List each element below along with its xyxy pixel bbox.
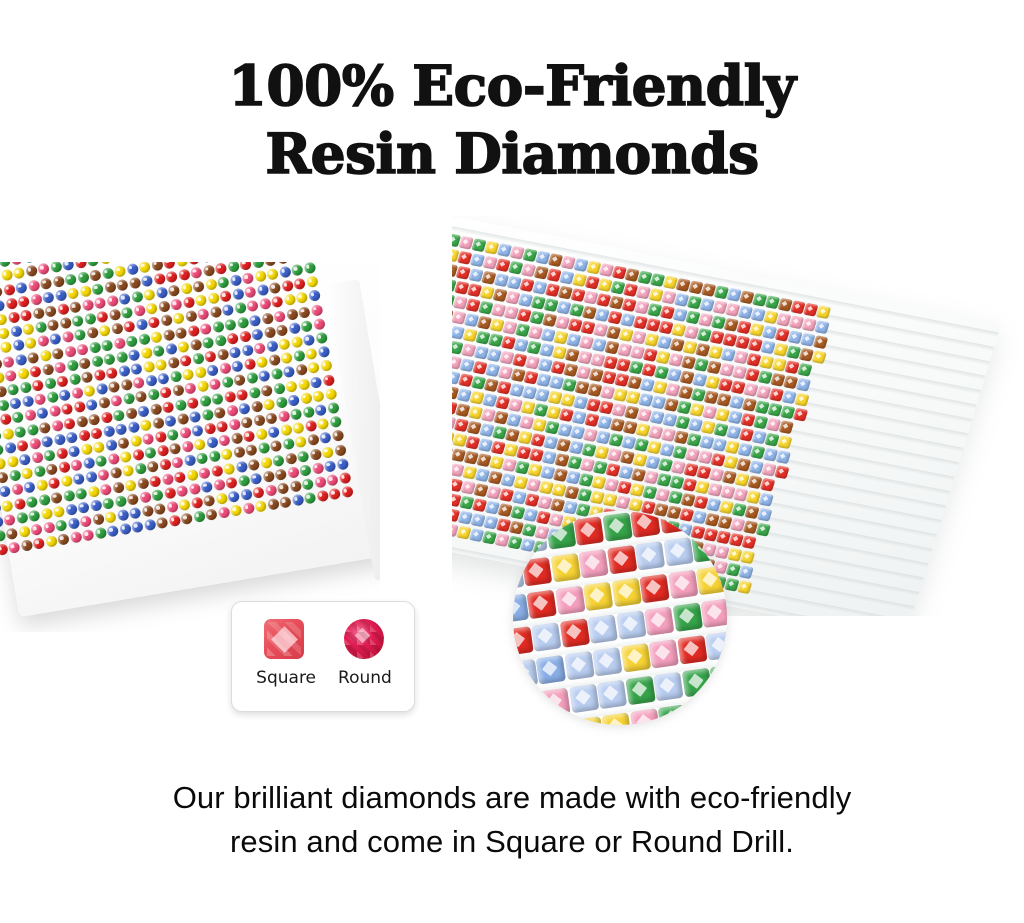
round-drill-bead xyxy=(0,299,5,312)
square-drill-bead-zoomed xyxy=(620,643,650,673)
round-drill-bead xyxy=(297,378,310,391)
round-drill-bead xyxy=(334,444,347,457)
round-drill-bead xyxy=(121,307,134,320)
round-drill-bead xyxy=(236,388,249,401)
round-drill-bead xyxy=(32,307,45,320)
square-drill-bead-zoomed xyxy=(715,511,727,526)
round-drill-bead xyxy=(315,332,328,345)
round-drill-bead xyxy=(101,339,114,352)
round-drill-gem-icon xyxy=(344,619,384,659)
square-drill-bead-zoomed xyxy=(531,622,561,652)
round-drill-bead xyxy=(199,322,212,335)
round-drill-bead xyxy=(159,387,172,400)
round-drill-bead xyxy=(38,493,51,506)
round-drill-bead xyxy=(23,262,36,264)
round-drill-bead xyxy=(290,336,303,349)
round-drill-bead xyxy=(84,313,97,326)
round-drill-bead xyxy=(268,354,281,367)
round-drill-bead xyxy=(189,410,202,423)
round-drill-bead xyxy=(217,276,230,289)
round-drill-bead xyxy=(249,314,262,327)
square-drill-bead-zoomed xyxy=(513,659,538,689)
round-drill-bead xyxy=(192,280,205,293)
round-drill-bead xyxy=(300,320,313,333)
round-drill-bead xyxy=(44,305,57,318)
square-drill-bead-zoomed xyxy=(527,590,557,620)
round-drill-bead xyxy=(168,515,181,528)
square-drill-bead xyxy=(779,420,794,434)
round-drill-bead xyxy=(279,496,292,509)
round-drill-bead xyxy=(219,290,232,303)
round-drill-bead xyxy=(0,385,7,398)
round-drill-bead xyxy=(139,491,152,504)
round-drill-bead xyxy=(37,263,50,276)
round-drill-bead xyxy=(19,381,32,394)
round-drill-bead xyxy=(128,349,141,362)
square-drill-bead-zoomed xyxy=(536,655,566,685)
round-drill-bead xyxy=(0,341,12,354)
square-drill-bead xyxy=(814,320,829,334)
round-drill-bead xyxy=(14,353,27,366)
round-drill-bead xyxy=(64,273,77,286)
round-drill-bead xyxy=(168,284,181,297)
legend-label-square: Square xyxy=(256,668,316,688)
round-drill-bead xyxy=(298,306,311,319)
square-drill-bead-zoomed xyxy=(658,511,688,534)
round-drill-bead xyxy=(48,477,61,490)
round-drill-bead xyxy=(135,319,148,332)
round-drill-bead xyxy=(6,455,19,468)
round-drill-bead xyxy=(67,287,80,300)
round-drill-bead xyxy=(176,412,189,425)
round-drill-bead xyxy=(163,487,176,500)
round-drill-bead xyxy=(156,517,169,530)
round-drill-bead xyxy=(83,385,96,398)
round-drill-bead xyxy=(281,280,294,293)
round-drill-bead xyxy=(0,313,8,326)
round-drill-bead xyxy=(151,489,164,502)
round-drill-bead xyxy=(143,289,156,302)
round-drill-bead xyxy=(122,465,135,478)
round-drill-bead xyxy=(69,301,82,314)
round-drill-bead xyxy=(0,262,11,268)
round-drill-bead xyxy=(116,279,129,292)
round-drill-bead xyxy=(166,501,179,514)
round-drill-bead xyxy=(280,352,293,365)
square-drill-bead-zoomed xyxy=(686,701,716,725)
product-caption: Our brilliant diamonds are made with eco… xyxy=(0,776,1024,864)
round-drill-bead xyxy=(328,488,341,501)
round-drill-bead xyxy=(34,393,47,406)
round-drill-bead xyxy=(290,408,303,421)
round-drill-bead xyxy=(142,361,155,374)
round-drill-bead xyxy=(3,283,16,296)
round-drill-bead xyxy=(264,484,277,497)
round-drill-bead xyxy=(200,262,213,263)
square-drill-gem-icon xyxy=(264,619,304,659)
round-drill-bead xyxy=(204,350,217,363)
round-drill-bead xyxy=(227,490,240,503)
round-drill-bead xyxy=(45,463,58,476)
round-drill-bead xyxy=(188,262,201,265)
round-drill-bead xyxy=(321,446,334,459)
round-drill-bead xyxy=(104,281,117,294)
round-drill-bead xyxy=(113,337,126,350)
round-drill-bead xyxy=(24,337,37,350)
round-drill-bead xyxy=(1,499,14,512)
round-drill-bead xyxy=(0,429,2,442)
round-drill-bead xyxy=(260,384,273,397)
round-drill-bead xyxy=(100,411,113,424)
round-drill-bead xyxy=(10,262,23,266)
round-drill-bead xyxy=(181,440,194,453)
round-drill-bead xyxy=(0,471,9,484)
round-drill-bead xyxy=(193,511,206,524)
round-drill-bead xyxy=(104,511,117,524)
round-drill-bead xyxy=(8,541,21,554)
round-drill-bead xyxy=(170,298,183,311)
round-drill-bead xyxy=(63,417,76,430)
round-drill-bead xyxy=(255,428,268,441)
round-drill-bead xyxy=(191,424,204,437)
left-tray-round-drills xyxy=(0,262,380,632)
round-drill-bead xyxy=(296,292,309,305)
round-drill-bead xyxy=(69,531,82,544)
round-drill-bead xyxy=(254,500,267,513)
round-drill-bead xyxy=(99,262,112,265)
round-drill-bead xyxy=(94,527,107,540)
round-drill-bead xyxy=(161,473,174,486)
round-drill-bead xyxy=(0,285,3,298)
round-drill-bead xyxy=(151,262,164,271)
square-drill-bead-zoomed xyxy=(513,626,533,656)
round-drill-bead xyxy=(182,368,195,381)
round-drill-bead xyxy=(140,347,153,360)
round-drill-bead xyxy=(149,403,162,416)
round-drill-bead xyxy=(78,429,91,442)
round-drill-bead xyxy=(81,299,94,312)
round-drill-bead xyxy=(182,296,195,309)
round-drill-bead xyxy=(112,409,125,422)
round-drill-bead xyxy=(214,334,227,347)
round-drill-bead xyxy=(146,461,159,474)
round-drill-bead xyxy=(0,530,6,543)
round-drill-bead xyxy=(0,516,3,529)
square-drill-bead xyxy=(816,305,831,319)
round-drill-bead xyxy=(41,435,54,448)
round-drill-bead xyxy=(203,422,216,435)
round-drill-bead xyxy=(270,440,283,453)
square-drill-bead-zoomed xyxy=(607,545,637,575)
round-drill-bead xyxy=(28,437,41,450)
round-drill-bead xyxy=(68,445,81,458)
round-drill-bead xyxy=(186,396,199,409)
round-drill-bead xyxy=(237,474,250,487)
round-drill-bead xyxy=(271,296,284,309)
round-drill-bead xyxy=(215,492,228,505)
round-drill-bead xyxy=(282,438,295,451)
round-drill-bead xyxy=(196,452,209,465)
round-drill-bead xyxy=(3,513,16,526)
square-drill-bead-zoomed xyxy=(546,520,576,550)
round-drill-bead xyxy=(291,264,304,277)
round-drill-bead xyxy=(93,369,106,382)
round-drill-bead xyxy=(131,291,144,304)
round-drill-bead xyxy=(134,463,147,476)
round-drill-bead xyxy=(111,262,124,263)
caption-line-1: Our brilliant diamonds are made with eco… xyxy=(173,780,852,815)
round-drill-bead xyxy=(17,295,30,308)
drill-shape-legend-card[interactable]: Square Round xyxy=(231,601,415,712)
round-drill-bead xyxy=(37,335,50,348)
round-drill-bead xyxy=(245,444,258,457)
round-drill-bead xyxy=(258,370,271,383)
round-drill-bead xyxy=(12,339,25,352)
square-drill-bead-zoomed xyxy=(592,647,622,677)
round-drill-bead xyxy=(190,266,203,279)
round-drill-bead xyxy=(65,503,78,516)
round-drill-bead xyxy=(31,451,44,464)
round-drill-bead xyxy=(61,331,74,344)
round-drill-bead xyxy=(44,377,57,390)
square-drill-bead-zoomed xyxy=(714,697,727,725)
round-drill-bead xyxy=(202,336,215,349)
round-drill-bead xyxy=(99,483,112,496)
round-drill-bead xyxy=(172,384,185,397)
round-drill-bead xyxy=(217,506,230,519)
round-drill-bead xyxy=(175,326,188,339)
round-drill-bead xyxy=(75,487,88,500)
round-drill-bead xyxy=(207,292,220,305)
round-drill-bead xyxy=(122,393,135,406)
round-drill-bead xyxy=(162,328,175,341)
round-drill-bead xyxy=(175,262,188,267)
round-drill-bead xyxy=(145,375,158,388)
round-drill-bead xyxy=(131,521,144,534)
square-drill-bead-zoomed xyxy=(639,574,669,604)
round-drill-bead xyxy=(136,477,149,490)
product-image-canvas: 100% Eco-Friendly Resin Diamonds Square … xyxy=(0,0,1024,923)
round-drill-bead xyxy=(336,458,349,471)
round-drill-bead xyxy=(244,286,257,299)
round-drill-bead xyxy=(254,270,267,283)
round-drill-bead xyxy=(280,424,293,437)
round-drill-bead xyxy=(206,436,219,449)
round-drill-bead xyxy=(85,399,98,412)
round-drill-bead xyxy=(183,455,196,468)
round-drill-bead xyxy=(178,268,191,281)
round-drill-bead xyxy=(95,455,108,468)
round-drill-bead xyxy=(226,404,239,417)
round-drill-bead xyxy=(96,311,109,324)
round-drill-bead xyxy=(55,447,68,460)
round-drill-bead xyxy=(142,433,155,446)
round-drill-bead xyxy=(212,320,225,333)
round-drill-bead xyxy=(173,471,186,484)
round-drill-bead xyxy=(176,485,189,498)
square-drill-bead xyxy=(740,550,755,564)
square-drill-bead-zoomed xyxy=(677,635,707,665)
square-drill-bead-zoomed xyxy=(564,651,594,681)
round-drill-bead xyxy=(187,324,200,337)
round-drill-bead xyxy=(243,430,256,443)
round-drill-bead xyxy=(78,357,91,370)
round-drill-bead xyxy=(95,383,108,396)
round-drill-bead xyxy=(130,363,143,376)
round-drill-bead xyxy=(253,342,266,355)
round-drill-bead xyxy=(209,378,222,391)
square-drill-bead-zoomed xyxy=(696,566,726,596)
square-drill-bead-zoomed xyxy=(635,541,665,571)
round-drill-bead xyxy=(20,539,33,552)
round-drill-bead xyxy=(77,271,90,284)
round-drill-bead xyxy=(164,415,177,428)
round-drill-bead xyxy=(7,311,20,324)
round-drill-bead xyxy=(85,471,98,484)
round-drill-bead xyxy=(324,388,337,401)
round-drill-bead xyxy=(13,267,26,280)
round-drill-bead xyxy=(223,390,236,403)
round-drill-bead xyxy=(76,343,89,356)
round-drill-bead xyxy=(116,509,129,522)
headline-line-1: 100% Eco-Friendly xyxy=(229,53,796,118)
round-drill-bead xyxy=(153,503,166,516)
round-drill-bead xyxy=(25,265,38,278)
round-drill-bead xyxy=(82,529,95,542)
round-drill-bead xyxy=(144,447,157,460)
round-drill-bead xyxy=(75,415,88,428)
round-drill-bead xyxy=(106,525,119,538)
round-drill-bead xyxy=(24,409,37,422)
round-drill-bead xyxy=(4,369,17,382)
round-drill-bead xyxy=(110,395,123,408)
round-drill-bead xyxy=(308,290,321,303)
round-drill-bead xyxy=(283,366,296,379)
round-drill-bead xyxy=(50,491,63,504)
round-drill-bead xyxy=(198,466,211,479)
round-drill-bead xyxy=(46,391,59,404)
round-drill-bead xyxy=(32,537,45,550)
round-drill-bead xyxy=(59,317,72,330)
magnifier-circle-closeup xyxy=(513,511,727,725)
round-drill-bead xyxy=(152,417,165,430)
round-drill-bead xyxy=(101,267,114,280)
round-drill-bead xyxy=(266,340,279,353)
round-drill-bead xyxy=(304,492,317,505)
round-drill-bead xyxy=(117,437,130,450)
round-drill-bead xyxy=(272,454,285,467)
round-drill-bead xyxy=(18,525,31,538)
square-drill-bead-zoomed xyxy=(611,578,641,608)
round-drill-bead xyxy=(79,515,92,528)
round-drill-bead xyxy=(277,410,290,423)
square-drill-bead xyxy=(741,535,756,549)
square-drill-bead-zoomed xyxy=(700,599,727,629)
round-drill-bead xyxy=(178,499,191,512)
square-drill-bead-zoomed xyxy=(583,582,613,612)
round-drill-bead xyxy=(155,359,168,372)
round-drill-bead xyxy=(287,466,300,479)
round-drill-bead xyxy=(65,431,78,444)
round-drill-bead xyxy=(224,318,237,331)
square-drill-bead-zoomed xyxy=(597,680,627,710)
round-drill-bead xyxy=(248,386,261,399)
round-drill-bead xyxy=(80,443,93,456)
round-drill-bead xyxy=(216,348,229,361)
round-drill-bead xyxy=(102,425,115,438)
round-drill-bead xyxy=(205,278,218,291)
round-drill-bead xyxy=(283,294,296,307)
round-drill-bead xyxy=(38,421,51,434)
round-drill-bead xyxy=(267,498,280,511)
round-drill-bead xyxy=(201,408,214,421)
round-drill-bead xyxy=(199,394,212,407)
round-drill-bead xyxy=(252,262,265,269)
round-drill-bead xyxy=(186,469,199,482)
legend-label-row: Square Round xyxy=(232,668,416,688)
round-drill-bead xyxy=(256,284,269,297)
round-drill-bead xyxy=(276,324,289,337)
round-drill-bead xyxy=(109,467,122,480)
round-drill-bead xyxy=(311,462,324,475)
round-drill-bead xyxy=(120,379,133,392)
round-drill-bead xyxy=(11,483,24,496)
round-drill-bead xyxy=(221,376,234,389)
round-drill-bead xyxy=(107,453,120,466)
round-drill-bead xyxy=(119,523,132,536)
round-drill-bead xyxy=(270,368,283,381)
round-drill-bead xyxy=(98,397,111,410)
round-drill-bead xyxy=(263,398,276,411)
round-drill-bead xyxy=(223,462,236,475)
square-drill-bead xyxy=(796,378,811,392)
round-drill-bead xyxy=(295,364,308,377)
round-drill-bead xyxy=(52,505,65,518)
round-drill-bead xyxy=(105,439,118,452)
round-drill-bead xyxy=(0,457,6,470)
round-drill-bead xyxy=(125,335,138,348)
round-drill-bead xyxy=(0,544,8,557)
round-drill-bead xyxy=(53,433,66,446)
round-drill-bead xyxy=(230,432,243,445)
round-drill-bead xyxy=(317,346,330,359)
square-drill-bead xyxy=(737,580,752,594)
round-drill-bead xyxy=(326,474,339,487)
round-drill-bead xyxy=(262,470,275,483)
round-drill-bead xyxy=(40,277,53,290)
round-drill-bead xyxy=(0,269,13,282)
round-drill-bead xyxy=(189,338,202,351)
round-drill-bead xyxy=(118,365,131,378)
round-drill-bead xyxy=(306,276,319,289)
round-drill-bead xyxy=(162,401,175,414)
round-drill-bead xyxy=(190,497,203,510)
round-drill-bead xyxy=(305,348,318,361)
round-drill-bead xyxy=(169,370,182,383)
round-drill-bead xyxy=(242,272,255,285)
round-drill-bead xyxy=(67,517,80,530)
round-drill-bead xyxy=(92,513,105,526)
round-drill-bead xyxy=(302,406,315,419)
round-drill-bead xyxy=(119,451,132,464)
round-drill-bead xyxy=(62,489,75,502)
round-drill-bead xyxy=(154,431,167,444)
round-drill-bead xyxy=(239,262,252,271)
round-drill-bead xyxy=(132,449,145,462)
round-drill-bead xyxy=(138,262,151,273)
round-drill-bead xyxy=(285,380,298,393)
round-drill-bead xyxy=(92,441,105,454)
